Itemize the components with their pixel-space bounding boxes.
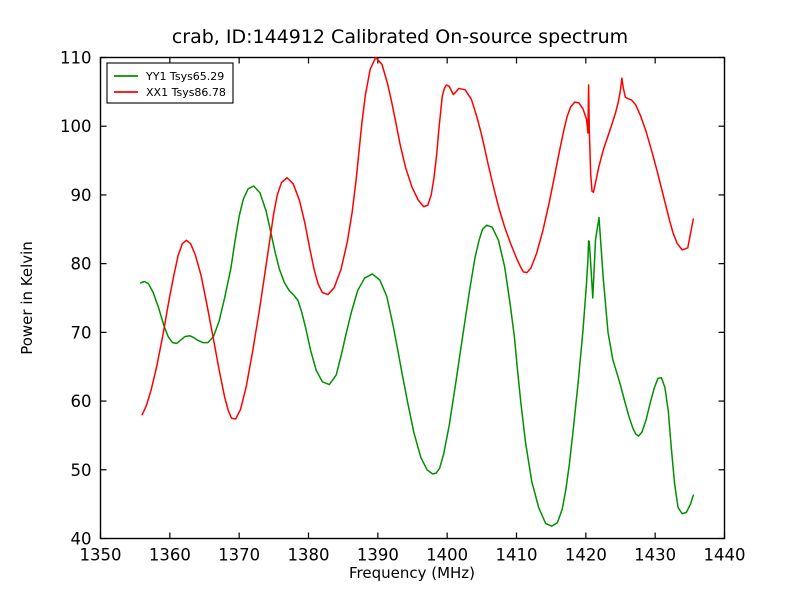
y-tick-label: 50 [71,461,92,480]
y-tick-label: 100 [60,117,92,136]
x-tick-label: 1390 [357,546,399,565]
x-tick-label: 1400 [426,546,468,565]
y-tick-label: 80 [71,255,92,274]
y-tick-label: 60 [71,392,92,411]
x-tick-label: 1430 [634,546,676,565]
figure-canvas: crab, ID:144912 Calibrated On-source spe… [0,0,800,600]
x-axis-label: Frequency (MHz) [349,564,475,582]
x-tick-label: 1360 [149,546,191,565]
series-line-xx1 [142,58,693,419]
legend-label-xx1: XX1 Tsys86.78 [146,86,226,99]
x-tick-label: 1440 [704,546,746,565]
y-tick-label: 110 [60,49,92,68]
x-axis-ticks: 1350136013701380139014001410142014301440 [80,58,746,565]
x-tick-label: 1410 [496,546,538,565]
chart-legend[interactable]: YY1 Tsys65.29XX1 Tsys86.78 [107,63,233,103]
x-tick-label: 1370 [218,546,260,565]
data-series-group [141,58,694,527]
plot-frame [101,58,725,539]
series-line-yy1 [141,186,694,526]
y-tick-label: 90 [71,186,92,205]
x-tick-label: 1420 [565,546,607,565]
y-tick-label: 40 [71,530,92,549]
y-tick-label: 70 [71,323,92,342]
spectrum-plot: 1350136013701380139014001410142014301440… [0,0,800,600]
legend-label-yy1: YY1 Tsys65.29 [145,70,224,83]
y-axis-ticks: 405060708090100110 [60,49,725,549]
y-axis-label: Power in Kelvin [18,241,36,355]
x-tick-label: 1380 [288,546,330,565]
